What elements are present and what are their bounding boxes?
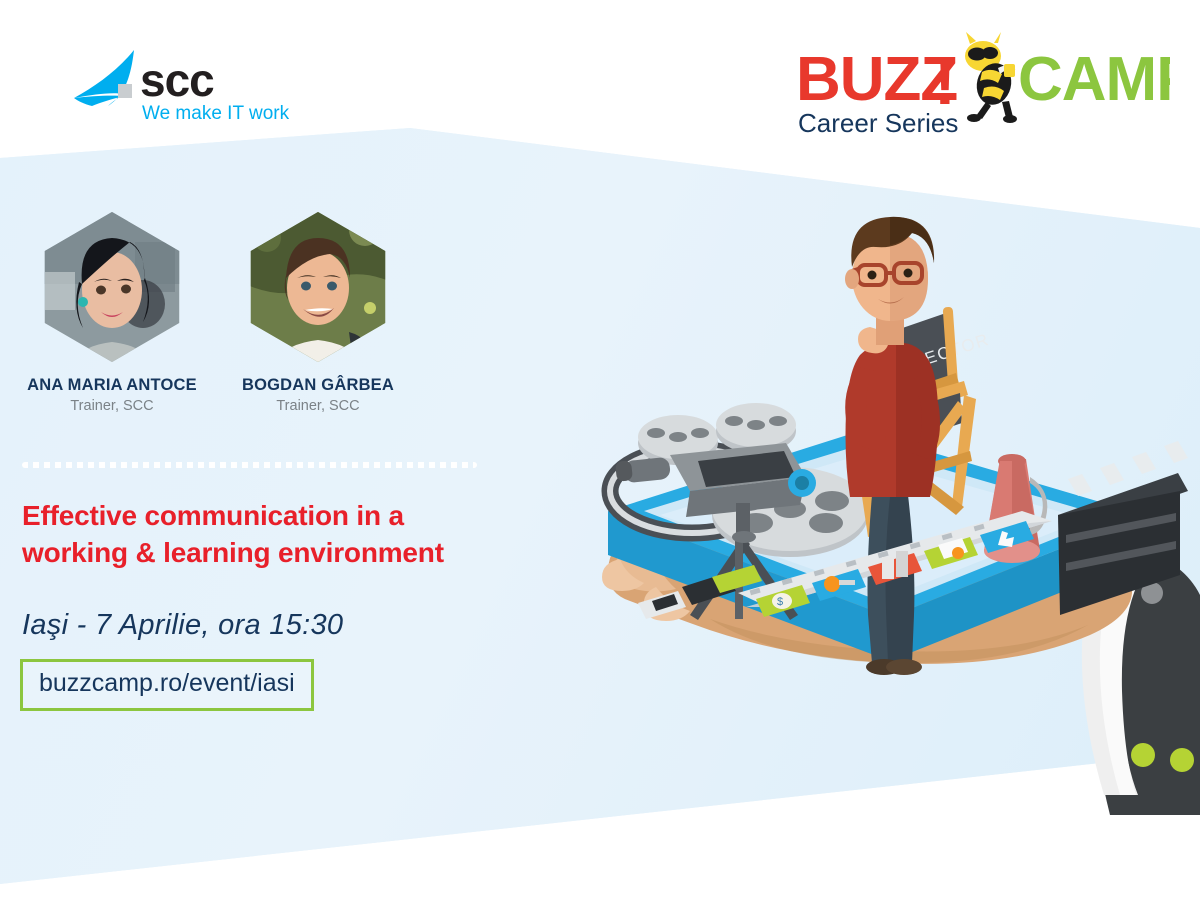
buzzcamp-camp-text: CAMP [1018,45,1170,114]
portrait-bogdan [245,212,391,362]
scc-tagline: We make IT work [142,103,290,124]
avatar [39,212,185,362]
trainer-role: Trainer, SCC [218,398,418,414]
trainer-card[interactable]: BOGDAN GÂRBEA Trainer, SCC [218,212,418,414]
bee-mascot-icon [965,32,1017,123]
headline-line-2: working & learning environment [22,534,542,571]
buzzcamp-exclaim: ! [934,44,956,118]
trainer-name: ANA MARIA ANTOCE [12,376,212,395]
buzzcamp-subtitle: Career Series [798,108,958,138]
event-datetime: Iaşi - 7 Aprilie, ora 15:30 [22,609,343,642]
portrait-ana-maria [39,212,185,362]
sleeve-dot-icon [1131,743,1155,767]
svg-text:$: $ [777,596,783,608]
scc-square-icon [118,84,132,98]
dashed-divider [22,462,477,468]
trainer-card[interactable]: ANA MARIA ANTOCE Trainer, SCC [12,212,212,414]
headline-line-1: Effective communication in a [22,500,404,531]
event-headline: Effective communication in a working & l… [22,497,542,571]
scc-wordmark: scc [140,54,214,106]
scc-logo[interactable]: scc We make IT work [62,46,302,126]
trainer-role: Trainer, SCC [12,398,212,414]
poster-canvas: scc We make IT work BUZZ ! [0,0,1200,900]
buzzcamp-logo[interactable]: BUZZ ! CAMP Car [770,28,1170,148]
event-url-button[interactable]: buzzcamp.ro/event/iasi [20,659,314,711]
film-director-illustration: DIRECTOR [560,215,1200,815]
event-url-text: buzzcamp.ro/event/iasi [39,669,295,697]
trainer-name: BOGDAN GÂRBEA [218,376,418,395]
sleeve-dot-icon [1170,748,1194,772]
avatar [245,212,391,362]
